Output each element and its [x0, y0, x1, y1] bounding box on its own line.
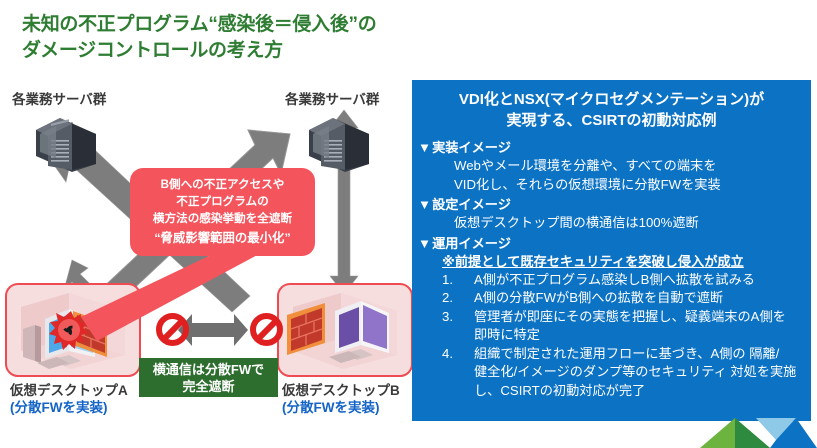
no-entry-icon-right [250, 313, 283, 346]
desktop-a-sub: (分散FWを実装) [10, 399, 128, 416]
slide-canvas: 未知の不正プログラム“感染後＝侵入後”の ダメージコントロールの考え方 [0, 0, 817, 448]
server-rack-icon-b [303, 110, 377, 172]
triangle-marker-icon: ▼ [418, 196, 431, 214]
desktop-b-sub: (分散FWを実装) [282, 399, 400, 416]
virtual-desktop-a-label: 仮想デスクトップA (分散FWを実装) [10, 382, 128, 416]
operation-step-list: 1. A側が不正プログラム感染しB側へ拡散を試みる 2. A側の分散FWがB側へ… [418, 271, 805, 401]
section-operation-heading: ▼運用イメージ [418, 235, 805, 253]
blue-panel-title: VDI化とNSX(マイクロセグメンテーション)が 実現する、CSIRTの初動対応… [418, 89, 805, 131]
section-configuration-heading: ▼設定イメージ [418, 196, 805, 214]
list-item: 4. 組織で制定された運用フローに基づき、A側の 隔離/ 健全化/イメージのダン… [442, 345, 805, 401]
threat-callout: B側への不正アクセスや 不正プログラムの 横方法の感染挙動を全遮断 “脅威影響範… [130, 168, 315, 256]
blue-info-panel: VDI化とNSX(マイクロセグメンテーション)が 実現する、CSIRTの初動対応… [412, 80, 811, 421]
lateral-block-note: 横通信は分散FWで 完全遮断 [139, 358, 278, 397]
corner-decoration [660, 418, 817, 448]
virtual-desktop-b-panel [277, 283, 413, 377]
virtual-desktop-b-label: 仮想デスクトップB (分散FWを実装) [282, 382, 400, 416]
triangle-marker-icon: ▼ [418, 139, 431, 157]
list-item: 3. 管理者が即座にその実態を把握し、疑義端末のA側を 即時に特定 [442, 308, 805, 345]
blue-title-line-2: 実現する、CSIRTの初動対応例 [418, 110, 805, 131]
list-item: 2. A側の分散FWがB側への拡散を自動で遮断 [442, 289, 805, 308]
callout-line-2: 不正プログラムの [130, 193, 315, 210]
section-implementation: ▼実装イメージ Webやメール環境を分離や、すべての端末を VID化し、それらの… [418, 139, 805, 194]
section-configuration: ▼設定イメージ 仮想デスクトップ間の横通信は100%遮断 [418, 196, 805, 233]
callout-line-3: 横方法の感染挙動を全遮断 [130, 210, 315, 227]
section-implementation-heading: ▼実装イメージ [418, 139, 805, 157]
desktop-b-name: 仮想デスクトップB [282, 382, 400, 399]
no-entry-icon-left [156, 313, 189, 346]
callout-line-1: B側への不正アクセスや [130, 176, 315, 193]
server-group-b-label: 各業務サーバ群 [285, 88, 379, 108]
triangle-marker-icon: ▼ [418, 235, 431, 253]
server-group-a-label: 各業務サーバ群 [12, 88, 106, 108]
server-rack-icon-a [30, 110, 104, 172]
green-box-line-1: 横通信は分散FWで [139, 361, 278, 378]
precondition-note: ※前提として既存セキュリティを突破し侵入が成立 [418, 253, 805, 271]
desktop-b-illustration [279, 285, 411, 375]
list-item: 1. A側が不正プログラム感染しB側へ拡散を試みる [442, 271, 805, 290]
section-configuration-body: 仮想デスクトップ間の横通信は100%遮断 [418, 214, 805, 233]
callout-line-4: “脅威影響範囲の最小化” [130, 230, 315, 247]
blue-title-line-1: VDI化とNSX(マイクロセグメンテーション)が [418, 89, 805, 110]
page-title: 未知の不正プログラム“感染後＝侵入後”の ダメージコントロールの考え方 [22, 12, 452, 64]
title-line-2: ダメージコントロールの考え方 [22, 38, 452, 64]
section-operation: ▼運用イメージ ※前提として既存セキュリティを突破し侵入が成立 1. A側が不正… [418, 235, 805, 401]
title-line-1: 未知の不正プログラム“感染後＝侵入後”の [22, 12, 452, 38]
green-box-line-2: 完全遮断 [139, 378, 278, 395]
section-implementation-body: Webやメール環境を分離や、すべての端末を VID化し、それらの仮想環境に分散F… [418, 157, 805, 194]
